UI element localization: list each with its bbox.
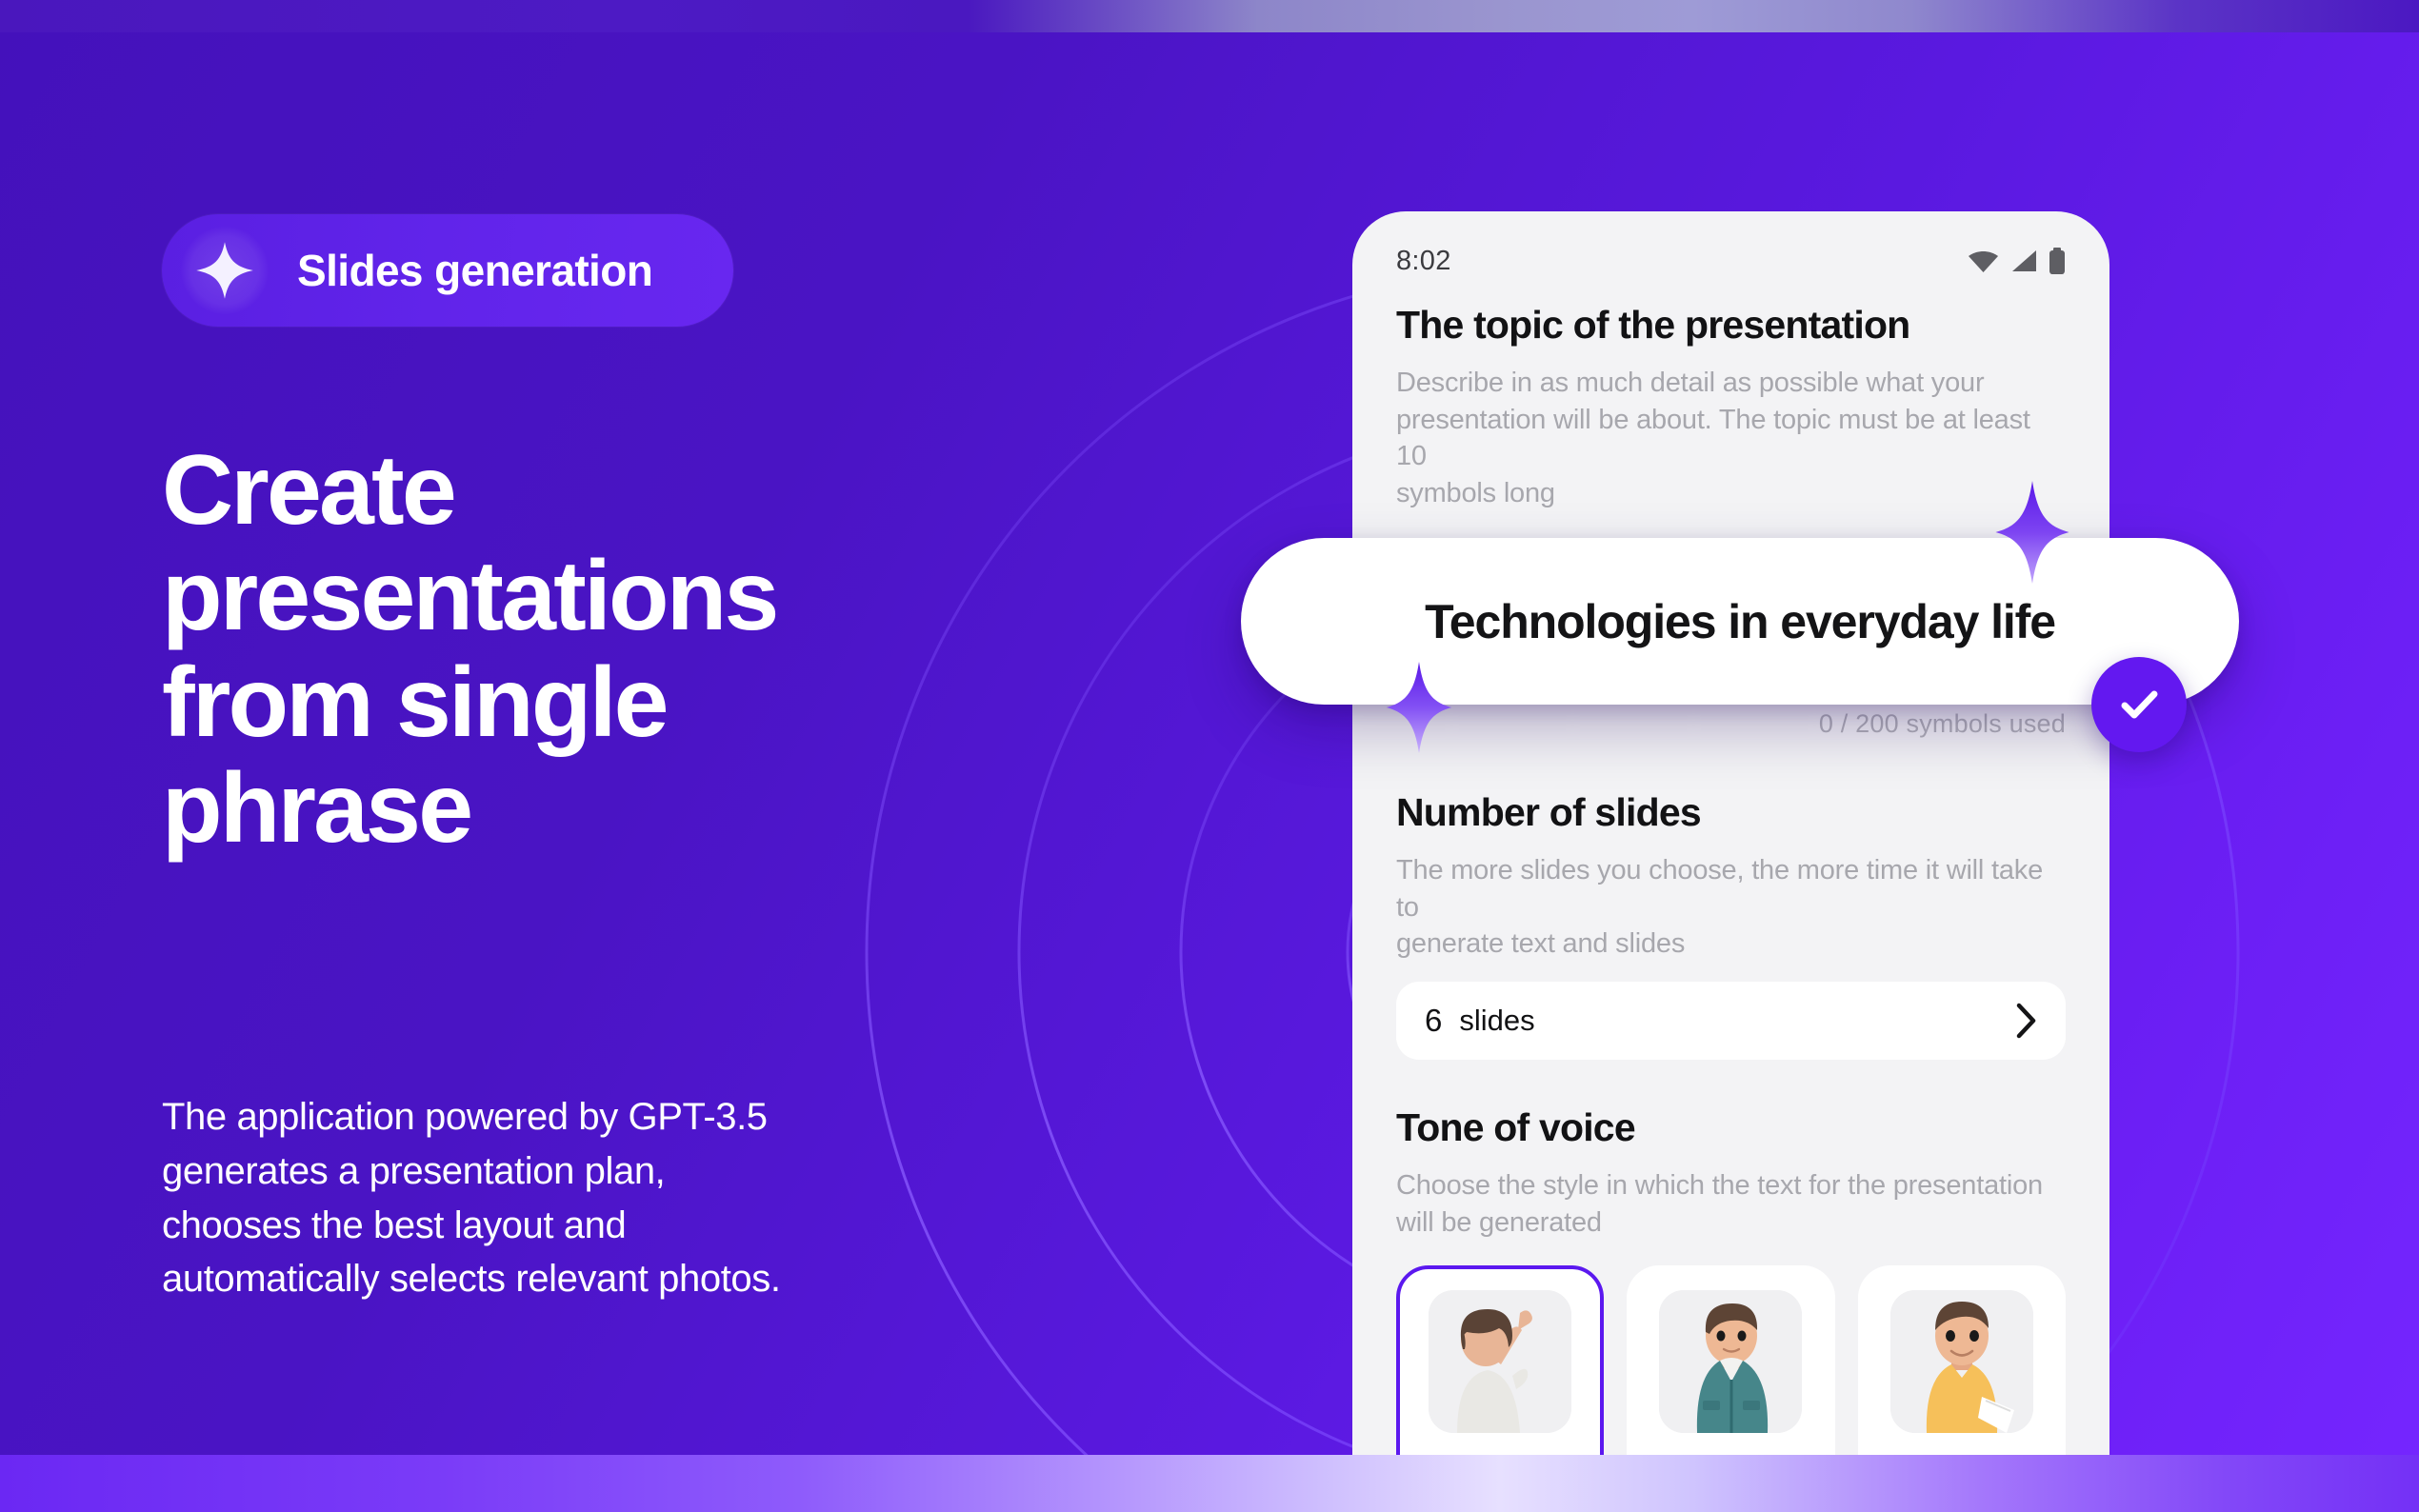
topic-desc-line-2: presentation will be about. The topic mu…	[1396, 402, 2066, 475]
wifi-icon	[1968, 249, 1999, 273]
slides-count-unit: slides	[1459, 1004, 1999, 1038]
tone-option-default[interactable]: Default	[1396, 1265, 1604, 1455]
phone-screen-content: The topic of the presentation Describe i…	[1352, 303, 2109, 1455]
headline-line-2: presentations	[162, 544, 1133, 649]
tone-desc-line-1: Choose the style in which the text for t…	[1396, 1167, 2066, 1204]
subcopy-line-3: chooses the best layout and	[162, 1199, 1019, 1253]
slides-count-selector[interactable]: 6 slides	[1396, 982, 2066, 1060]
tone-option-label: Professional	[1656, 1454, 1806, 1455]
phone-mockup: 8:02 The topic of the presentation Descr…	[1352, 211, 2109, 1455]
sparkle-star-icon	[1995, 481, 2069, 584]
battery-icon	[2049, 248, 2066, 274]
slides-section-description: The more slides you choose, the more tim…	[1396, 852, 2066, 963]
tone-option-professional[interactable]: Professional	[1627, 1265, 1834, 1455]
topic-section-title: The topic of the presentation	[1396, 303, 2066, 348]
topic-desc-line-3: symbols long	[1396, 475, 2066, 512]
headline-line-3: from single	[162, 650, 1133, 756]
status-bar-icons	[1968, 248, 2066, 274]
slides-desc-line-2: generate text and slides	[1396, 925, 2066, 963]
tone-section-description: Choose the style in which the text for t…	[1396, 1167, 2066, 1241]
sparkle-star-icon	[181, 227, 269, 314]
headline-line-1: Create	[162, 438, 1133, 544]
headline-line-4: phrase	[162, 756, 1133, 862]
tone-desc-line-2: will be generated	[1396, 1204, 2066, 1242]
confirm-topic-button[interactable]	[2091, 657, 2187, 752]
subcopy-line-4: automatically selects relevant photos.	[162, 1252, 1019, 1306]
status-bar-clock: 8:02	[1396, 246, 1451, 277]
tone-section-title: Tone of voice	[1396, 1105, 2066, 1150]
person-teal-jacket-avatar	[1659, 1290, 1802, 1433]
topic-input-value: Technologies in everyday life	[1425, 594, 2055, 649]
tone-option-label: Academic	[1902, 1454, 2022, 1455]
slides-section-title: Number of slides	[1396, 790, 2066, 835]
tone-section: Tone of voice Choose the style in which …	[1396, 1105, 2066, 1455]
topic-desc-line-1: Describe in as much detail as possible w…	[1396, 365, 2066, 402]
slides-section: Number of slides The more slides you cho…	[1396, 790, 2066, 1060]
page-title: Create presentations from single phrase	[162, 438, 1133, 862]
tone-option-academic[interactable]: Academic	[1858, 1265, 2066, 1455]
subcopy-line-1: The application powered by GPT-3.5	[162, 1090, 1019, 1144]
slides-desc-line-1: The more slides you choose, the more tim…	[1396, 852, 2066, 925]
subcopy-line-2: generates a presentation plan,	[162, 1144, 1019, 1199]
topic-section-description: Describe in as much detail as possible w…	[1396, 365, 2066, 511]
tone-options-list: Default	[1396, 1265, 2066, 1455]
cellular-signal-icon	[2009, 249, 2038, 273]
page-description: The application powered by GPT-3.5 gener…	[162, 1090, 1019, 1306]
badge-label: Slides generation	[297, 245, 652, 296]
slides-count-value: 6	[1425, 1003, 1442, 1039]
person-yellow-shirt-avatar	[1890, 1290, 2033, 1433]
slides-generation-badge: Slides generation	[162, 214, 733, 327]
check-icon	[2113, 679, 2165, 730]
symbols-counter: 0 / 200 symbols used	[1396, 709, 2066, 739]
phone-status-bar: 8:02	[1352, 242, 2109, 280]
chevron-right-icon	[2016, 1003, 2037, 1039]
tone-option-label: Default	[1457, 1454, 1544, 1455]
left-content-column: Slides generation Create presentations f…	[162, 0, 1257, 1512]
sparkle-star-icon	[1386, 662, 1452, 753]
person-writing-on-board-avatar	[1429, 1290, 1571, 1433]
